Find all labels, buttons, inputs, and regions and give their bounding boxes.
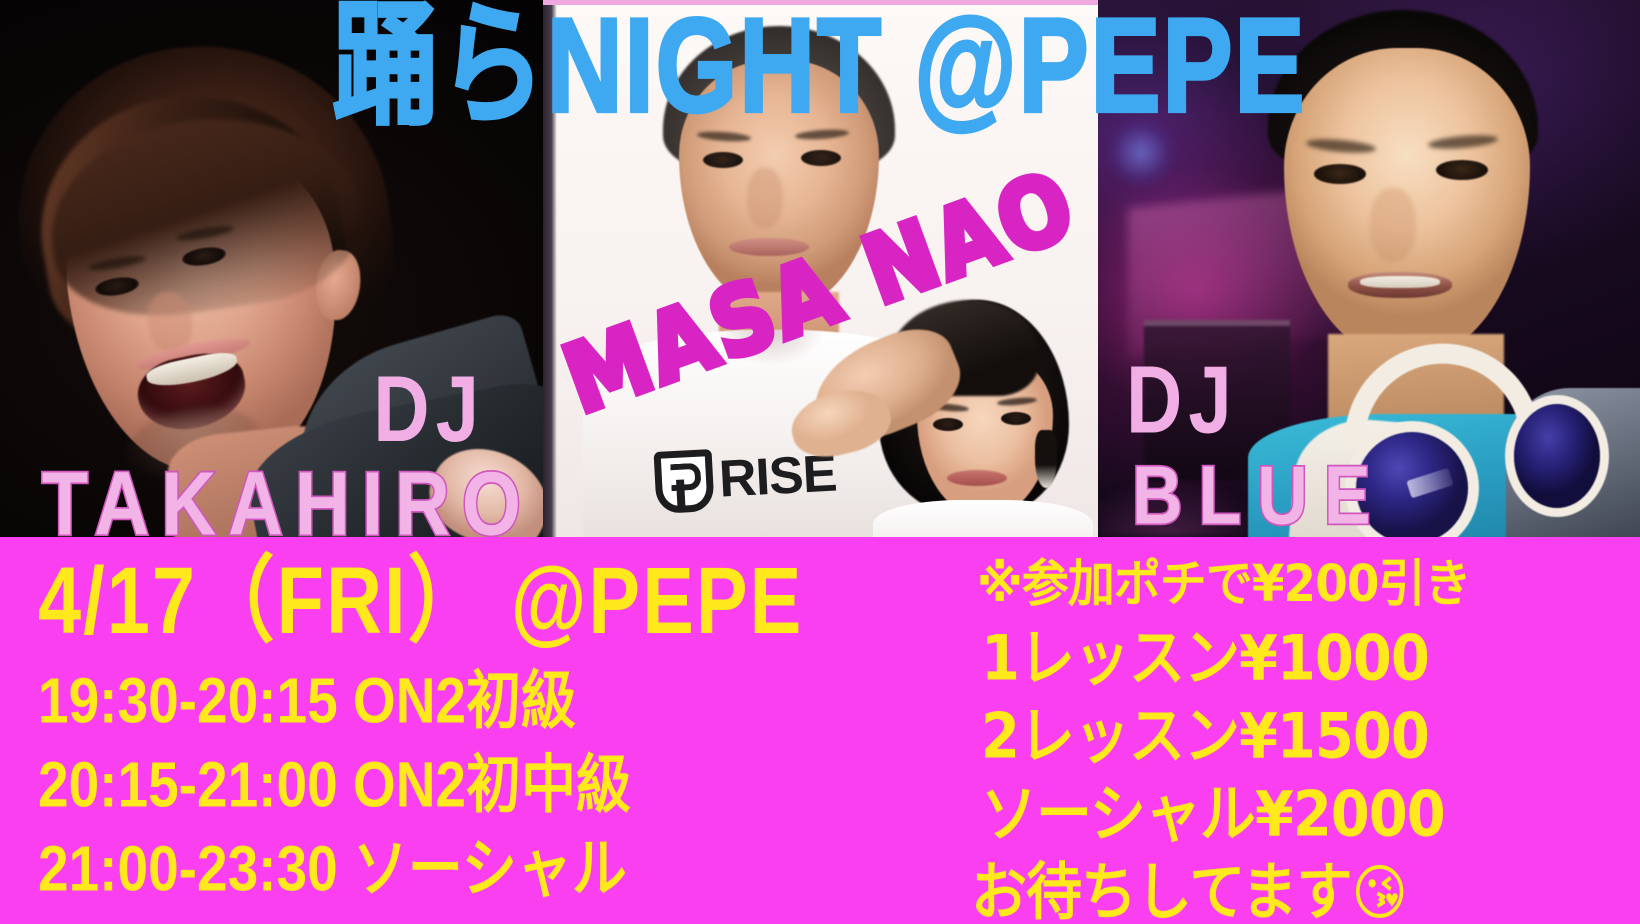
panel2-man-eye-left xyxy=(703,152,743,168)
panel2-woman-eye-right xyxy=(1001,412,1031,425)
panel2-man-nose xyxy=(747,168,783,228)
panel2-left-edge xyxy=(543,0,557,537)
schedule-item: 21:00-23:30 ソーシャル xyxy=(38,837,965,901)
photo-panel-dj-takahiro xyxy=(0,0,543,537)
event-info-band: 4/17（FRI） @PEPE 19:30-20:15 ON2初級 20:15-… xyxy=(0,537,1640,924)
middle-panel-top-accent xyxy=(543,0,1098,5)
panel3-eye-right xyxy=(1436,160,1488,180)
pricing-column: ※参加ポチで¥200引き 1レッスン¥1000 2レッスン¥1500 ソーシャル… xyxy=(965,537,1640,924)
panel2-man-collar xyxy=(711,330,831,378)
panel3-eye-left xyxy=(1314,164,1366,184)
closing-message: お待ちしてます😘 xyxy=(965,862,1640,924)
headphones-right-cup-icon xyxy=(1514,404,1600,508)
panel2-man-eye-right xyxy=(801,150,841,166)
event-date-venue: 4/17（FRI） @PEPE xyxy=(38,555,984,649)
event-flyer: RISE xyxy=(0,0,1640,924)
photo-band: RISE xyxy=(0,0,1640,537)
schedule-item: 20:15-21:00 ON2初中級 xyxy=(38,753,965,817)
schedule-item: 19:30-20:15 ON2初級 xyxy=(38,669,965,733)
photo-panel-dj-blue xyxy=(1098,0,1640,537)
headphones-left-cup-icon xyxy=(1356,432,1468,537)
price-item: 2レッスン¥1500 xyxy=(965,706,1640,769)
panel2-woman-mouth xyxy=(947,470,1007,486)
price-item: 1レッスン¥1000 xyxy=(965,628,1640,691)
panel2-woman-top xyxy=(873,500,1093,537)
panel3-teeth xyxy=(1360,276,1440,288)
photo-panel-masa-nao: RISE xyxy=(543,0,1098,537)
panel2-man-mouth xyxy=(729,238,809,256)
schedule-list: 19:30-20:15 ON2初級 20:15-21:00 ON2初中級 21:… xyxy=(38,669,965,892)
panel3-stage-light xyxy=(1106,118,1176,188)
closing-message-text: お待ちしてます xyxy=(971,856,1352,924)
rise-shield-icon xyxy=(654,449,715,514)
price-item: ソーシャル¥2000 xyxy=(965,784,1640,847)
panel2-woman-earring xyxy=(1035,430,1057,488)
pricing-discount-note: ※参加ポチで¥200引き xyxy=(965,559,1640,610)
panel3-nose xyxy=(1370,188,1416,262)
schedule-column: 4/17（FRI） @PEPE 19:30-20:15 ON2初級 20:15-… xyxy=(0,537,965,924)
kissing-face-emoji: 😘 xyxy=(1352,858,1407,924)
panel2-woman-eye-left xyxy=(933,418,963,431)
